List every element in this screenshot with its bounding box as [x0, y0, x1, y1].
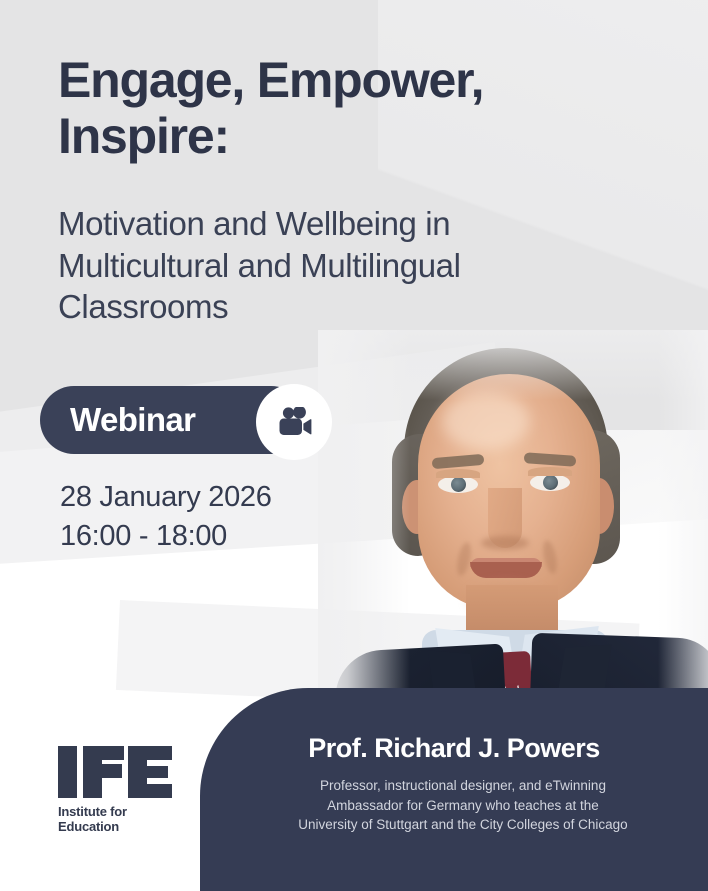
portrait-mouth	[470, 562, 542, 578]
portrait-forehead-highlight	[442, 392, 530, 450]
ife-logo-subtitle: Institute for Education	[58, 804, 208, 835]
ife-logo-mark	[58, 742, 172, 798]
portrait-eyelid-right	[528, 467, 572, 476]
ife-logo-subtitle-line-2: Education	[58, 819, 208, 834]
subtitle-line-1: Motivation and Wellbeing in	[58, 203, 578, 245]
event-date: 28 January 2026	[60, 478, 272, 517]
portrait-eye-left	[438, 476, 478, 493]
video-camera-icon	[256, 384, 332, 460]
event-time: 16:00 - 18:00	[60, 517, 272, 556]
portrait-eye-right	[530, 474, 570, 491]
speaker-name: Prof. Richard J. Powers	[200, 733, 708, 764]
portrait-iris-right	[543, 475, 558, 490]
speaker-bio-line-3: University of Stuttgart and the City Col…	[240, 815, 686, 835]
webinar-badge[interactable]: Webinar	[40, 386, 332, 458]
speaker-bio-line-2: Ambassador for Germany who teaches at th…	[240, 796, 686, 816]
ife-logo: Institute for Education	[58, 742, 208, 835]
portrait-eyelid-left	[436, 469, 480, 478]
headline-line-2: Inspire:	[58, 108, 648, 164]
event-schedule: 28 January 2026 16:00 - 18:00	[60, 478, 272, 555]
subtitle-line-2: Multicultural and Multilingual	[58, 245, 578, 287]
page-subtitle: Motivation and Wellbeing in Multicultura…	[58, 203, 578, 328]
speaker-bio-line-1: Professor, instructional designer, and e…	[240, 776, 686, 796]
headline-line-1: Engage, Empower,	[58, 52, 648, 108]
webinar-poster: Engage, Empower, Inspire: Motivation and…	[0, 0, 708, 891]
page-title: Engage, Empower, Inspire:	[58, 52, 648, 164]
portrait-iris-left	[451, 477, 466, 492]
subtitle-line-3: Classrooms	[58, 286, 578, 328]
ife-logo-subtitle-line-1: Institute for	[58, 804, 208, 819]
portrait-nose-shadow	[481, 536, 529, 550]
webinar-badge-label: Webinar	[70, 401, 195, 439]
speaker-bio: Professor, instructional designer, and e…	[240, 776, 686, 835]
speaker-panel: Prof. Richard J. Powers Professor, instr…	[200, 688, 708, 891]
